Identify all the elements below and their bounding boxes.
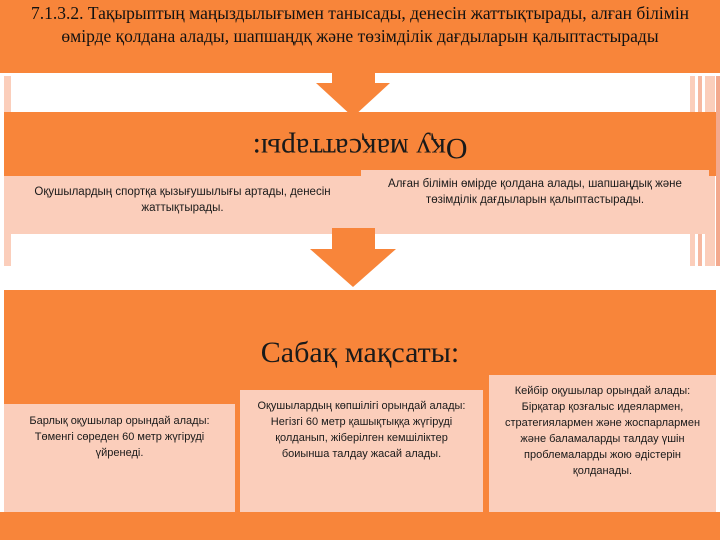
decor-stripe-right-4 [716,76,720,266]
lesson-objective-heading: Сабақ мақсаты: [120,330,600,376]
lesson-objective-box-all: Барлық оқушылар орындай алады: Төменгі с… [4,404,235,512]
down-arrow-2-icon [310,249,396,287]
slide-canvas: 7.1.3.2. Тақырыптың маңыздылығымен таныс… [0,0,720,540]
learning-objective-box-right: Алған білімін өмірде қолдана алады, шапш… [361,170,709,234]
lesson-objective-box-most: Оқушылардың көпшілігі орындай алады: Нег… [240,390,483,512]
down-arrow-1-stem [332,60,375,84]
footer-banner [0,512,720,540]
lesson-objective-box-some: Кейбір оқушылар орындай алады: Бірқатар … [489,375,716,512]
down-arrow-2-stem [332,228,375,250]
learning-objectives-heading: Оқу мақсаттары: [120,122,600,174]
page-title: 7.1.3.2. Тақырыптың маңыздылығымен таныс… [28,2,692,48]
learning-objective-box-left: Оқушылардың спортқа қызығушылығы артады,… [4,176,361,234]
